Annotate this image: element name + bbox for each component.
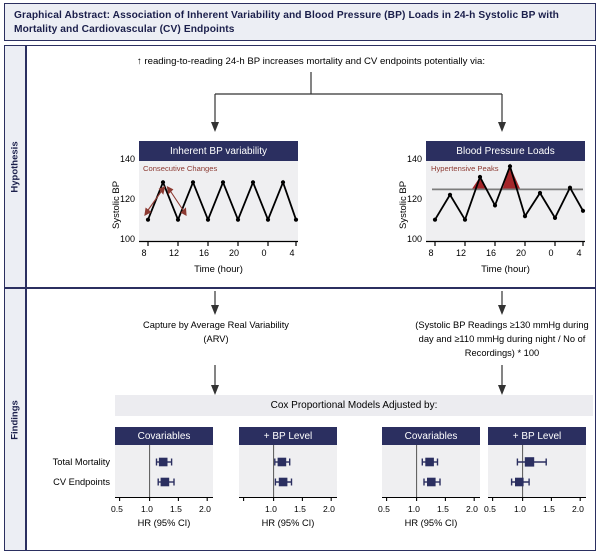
chart-title-bp-loads: Blood Pressure Loads [426, 141, 585, 161]
definition-arv: Capture by Average Real Variability (ARV… [130, 318, 302, 346]
y-tick-100-left: 100 [109, 234, 135, 244]
hypothesis-premise: ↑ reading-to-reading 24-h BP increases m… [27, 56, 595, 67]
forest-chart-4 [488, 445, 586, 497]
forest4-tick-2p0: 2.0 [568, 504, 588, 514]
findings-connector-mid [27, 365, 595, 395]
x-tick-0-left: 0 [256, 248, 272, 258]
cox-models-header: Cox Proportional Models Adjusted by: [115, 395, 593, 416]
page-title: Graphical Abstract: Association of Inher… [14, 9, 589, 36]
line-chart-inherent-variability [139, 161, 298, 241]
forest3-tick-0p5: 0.5 [374, 504, 394, 514]
forest1-tick-0p5: 0.5 [107, 504, 127, 514]
section-rail-hypothesis: Hypothesis [4, 45, 26, 288]
y-tick-120-right: 120 [396, 194, 422, 204]
forest-axis-4 [488, 497, 586, 502]
forest-axis-title-1: HR (95% CI) [115, 518, 213, 528]
y-tick-140-right: 140 [396, 154, 422, 164]
forest-axis-2 [239, 497, 337, 502]
x-tick-20-left: 20 [226, 248, 242, 258]
forest1-tick-2p0: 2.0 [195, 504, 215, 514]
forest4-tick-1p5: 1.5 [539, 504, 559, 514]
row-label-cv-endpoints: CV Endpoints [27, 477, 110, 487]
x-tick-12-right: 12 [453, 248, 469, 258]
forest-axis-title-2: HR (95% CI) [239, 518, 337, 528]
findings-panel: Capture by Average Real Variability (ARV… [26, 288, 596, 551]
x-tick-12-left: 12 [166, 248, 182, 258]
section-rail-findings: Findings [4, 288, 26, 551]
line-chart-bp-loads [426, 161, 585, 241]
forest-axis-3 [382, 497, 480, 502]
row-label-total-mortality: Total Mortality [27, 457, 110, 467]
y-tick-120-left: 120 [109, 194, 135, 204]
y-tick-140-left: 140 [109, 154, 135, 164]
forest-axis-1 [115, 497, 213, 502]
forest-axis-title-3: HR (95% CI) [382, 518, 480, 528]
graphical-abstract: Graphical Abstract: Association of Inher… [0, 0, 600, 555]
forest-chart-2 [239, 445, 337, 497]
rail-label-findings: Findings [10, 400, 21, 440]
forest-title-2: + BP Level [239, 427, 337, 445]
x-axis-left [139, 241, 298, 247]
forest1-tick-1p0: 1.0 [137, 504, 157, 514]
hypothesis-connector [27, 72, 595, 134]
title-bar: Graphical Abstract: Association of Inher… [4, 3, 596, 41]
x-tick-16-right: 16 [483, 248, 499, 258]
hypothesis-panel: ↑ reading-to-reading 24-h BP increases m… [26, 45, 596, 288]
definition-bp-load: (Systolic BP Readings ≥130 mmHg during d… [409, 318, 595, 360]
forest2-tick-1p0: 1.0 [261, 504, 281, 514]
x-tick-8-left: 8 [136, 248, 152, 258]
forest2-tick-2p0: 2.0 [319, 504, 339, 514]
x-axis-title-right: Time (hour) [426, 264, 585, 275]
forest-title-1: Covariables [115, 427, 213, 445]
x-axis-title-left: Time (hour) [139, 264, 298, 275]
x-tick-0-right: 0 [543, 248, 559, 258]
x-tick-8-right: 8 [423, 248, 439, 258]
y-tick-100-right: 100 [396, 234, 422, 244]
forest4-tick-1p0: 1.0 [510, 504, 530, 514]
x-tick-4-left: 4 [284, 248, 300, 258]
y-axis-label-left: Systolic BP [111, 181, 122, 229]
forest3-tick-2p0: 2.0 [462, 504, 482, 514]
forest1-tick-1p5: 1.5 [166, 504, 186, 514]
x-tick-4-right: 4 [571, 248, 587, 258]
x-tick-16-left: 16 [196, 248, 212, 258]
forest-title-4: + BP Level [488, 427, 586, 445]
x-axis-right [426, 241, 585, 247]
forest-title-3: Covariables [382, 427, 480, 445]
y-axis-label-right: Systolic BP [398, 181, 409, 229]
forest-chart-1 [115, 445, 213, 497]
forest-chart-3 [382, 445, 480, 497]
chart-title-inherent-variability: Inherent BP variability [139, 141, 298, 161]
x-tick-20-right: 20 [513, 248, 529, 258]
forest3-tick-1p0: 1.0 [404, 504, 424, 514]
findings-connector-top [27, 291, 595, 315]
forest3-tick-1p5: 1.5 [433, 504, 453, 514]
forest2-tick-1p5: 1.5 [290, 504, 310, 514]
rail-label-hypothesis: Hypothesis [10, 141, 21, 192]
forest4-tick-0p5: 0.5 [480, 504, 500, 514]
